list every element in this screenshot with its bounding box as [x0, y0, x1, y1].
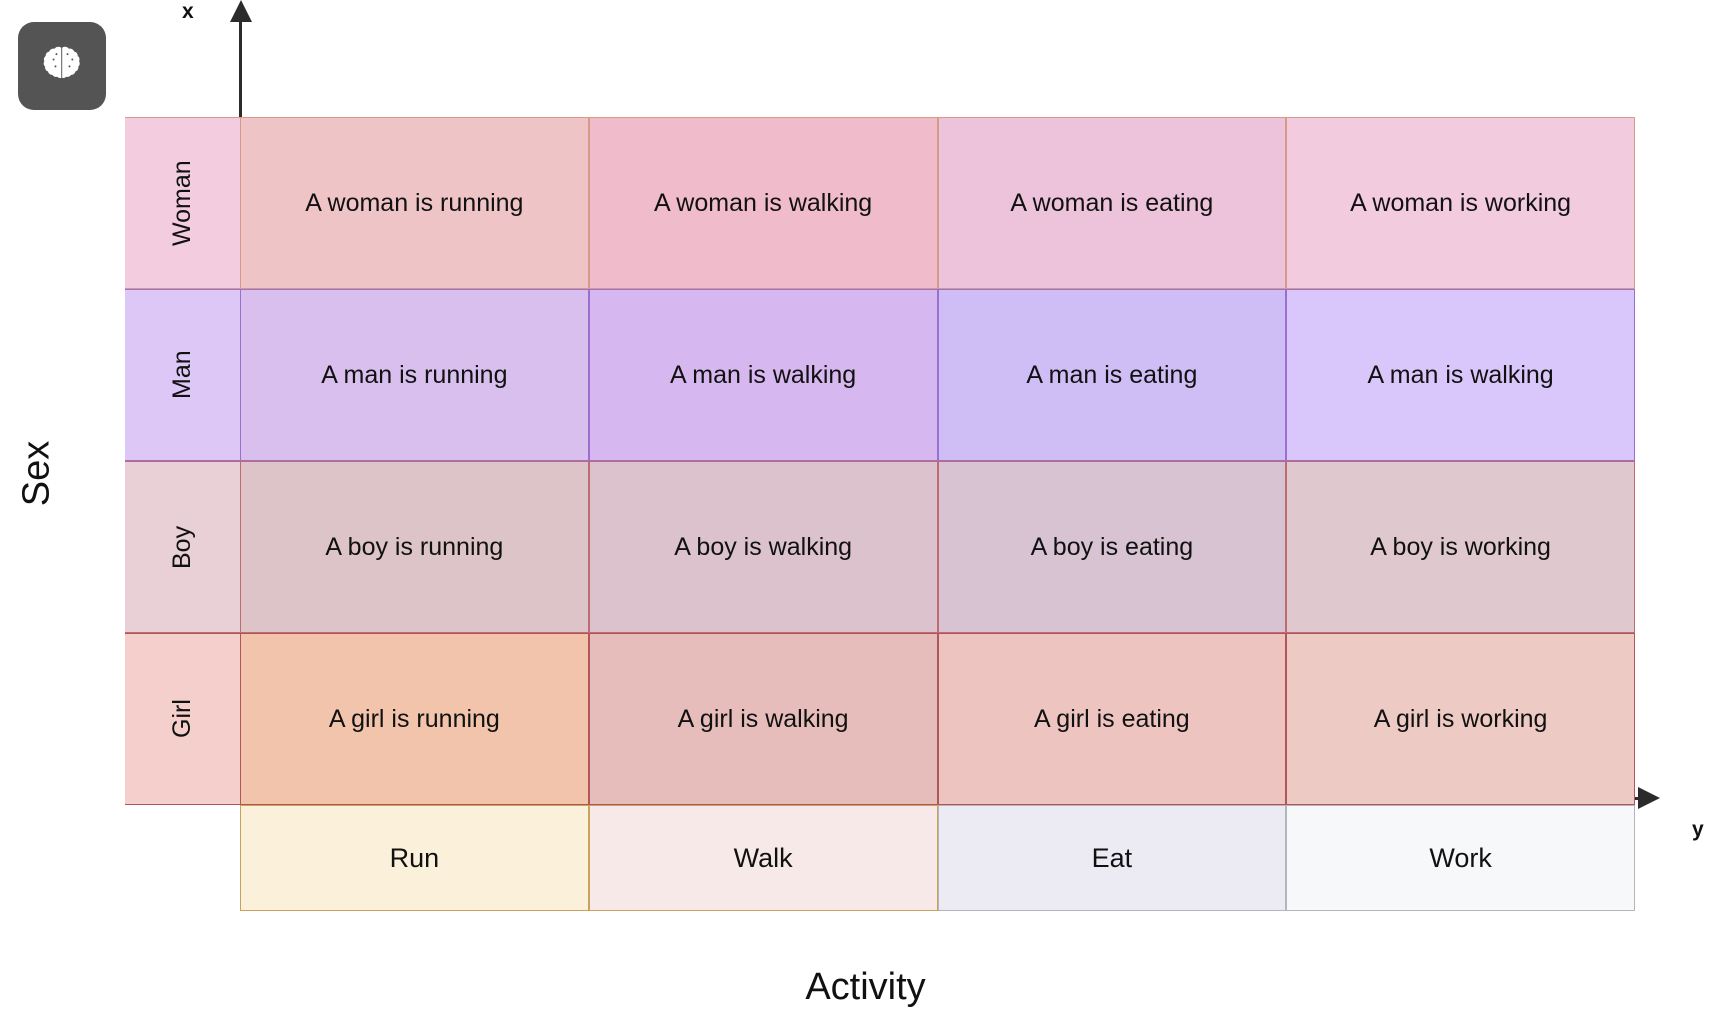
matrix-cell: A boy is eating: [938, 461, 1287, 633]
row-header-woman: Woman: [125, 117, 240, 289]
matrix-cell: A woman is running: [240, 117, 589, 289]
column-header-work: Work: [1286, 805, 1635, 911]
vertical-axis-symbol: x: [182, 0, 194, 24]
column-header-run: Run: [240, 805, 589, 911]
matrix-cell: A woman is working: [1286, 117, 1635, 289]
matrix-cell: A girl is eating: [938, 633, 1287, 805]
horizontal-axis-symbol: y: [1692, 818, 1704, 842]
matrix-cell: A girl is walking: [589, 633, 938, 805]
sex-axis-title: Sex: [16, 414, 59, 534]
matrix-cell: A man is eating: [938, 289, 1287, 461]
matrix-cell: A woman is eating: [938, 117, 1287, 289]
row-header-man: Man: [125, 289, 240, 461]
matrix-cell: A man is walking: [1286, 289, 1635, 461]
column-header-walk: Walk: [589, 805, 938, 911]
matrix-cell: A boy is working: [1286, 461, 1635, 633]
sentence-matrix: WomanA woman is runningA woman is walkin…: [125, 117, 1635, 911]
matrix-cell: A boy is walking: [589, 461, 938, 633]
column-header-eat: Eat: [938, 805, 1287, 911]
activity-axis-title: Activity: [0, 966, 1731, 1009]
brain-badge[interactable]: [18, 22, 106, 110]
row-header-boy: Boy: [125, 461, 240, 633]
matrix-corner-blank: [125, 805, 240, 911]
matrix-cell: A girl is running: [240, 633, 589, 805]
matrix-cell: A man is walking: [589, 289, 938, 461]
horizontal-axis-arrowhead: [1638, 787, 1660, 809]
matrix-cell: A boy is running: [240, 461, 589, 633]
matrix-cell: A woman is walking: [589, 117, 938, 289]
row-header-girl: Girl: [125, 633, 240, 805]
matrix-cell: A girl is working: [1286, 633, 1635, 805]
matrix-cell: A man is running: [240, 289, 589, 461]
brain-icon: [39, 43, 85, 89]
